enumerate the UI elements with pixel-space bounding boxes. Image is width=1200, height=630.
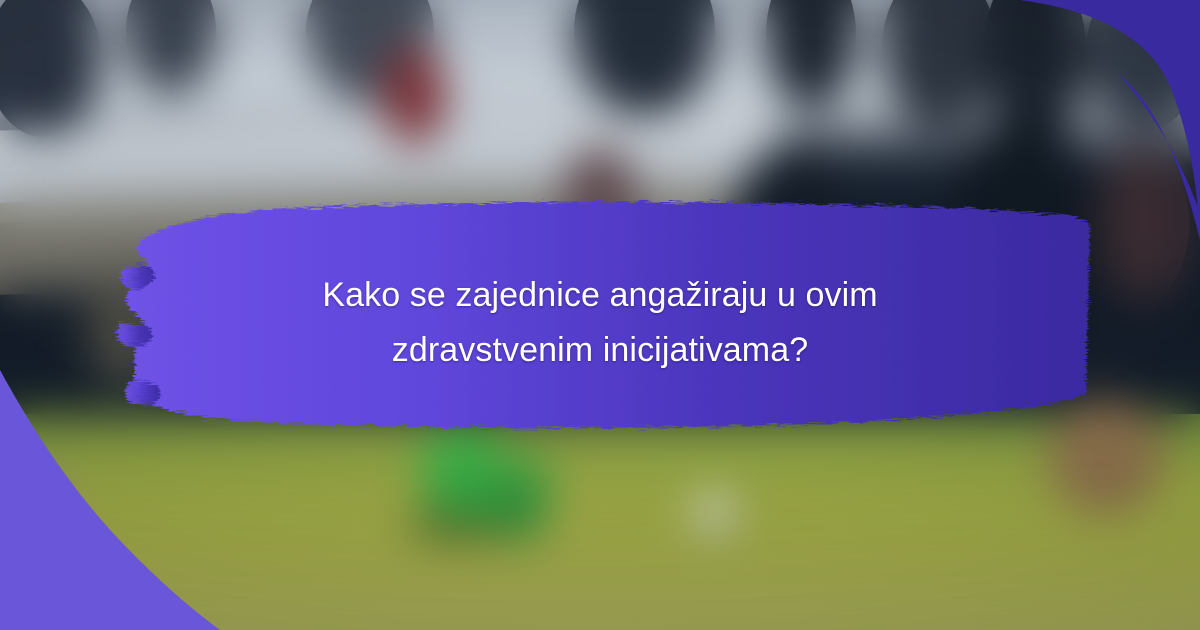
social-quote-card: Kako se zajednice angažiraju u ovim zdra… — [0, 0, 1200, 630]
headline-text: Kako se zajednice angažiraju u ovim zdra… — [150, 268, 1050, 378]
